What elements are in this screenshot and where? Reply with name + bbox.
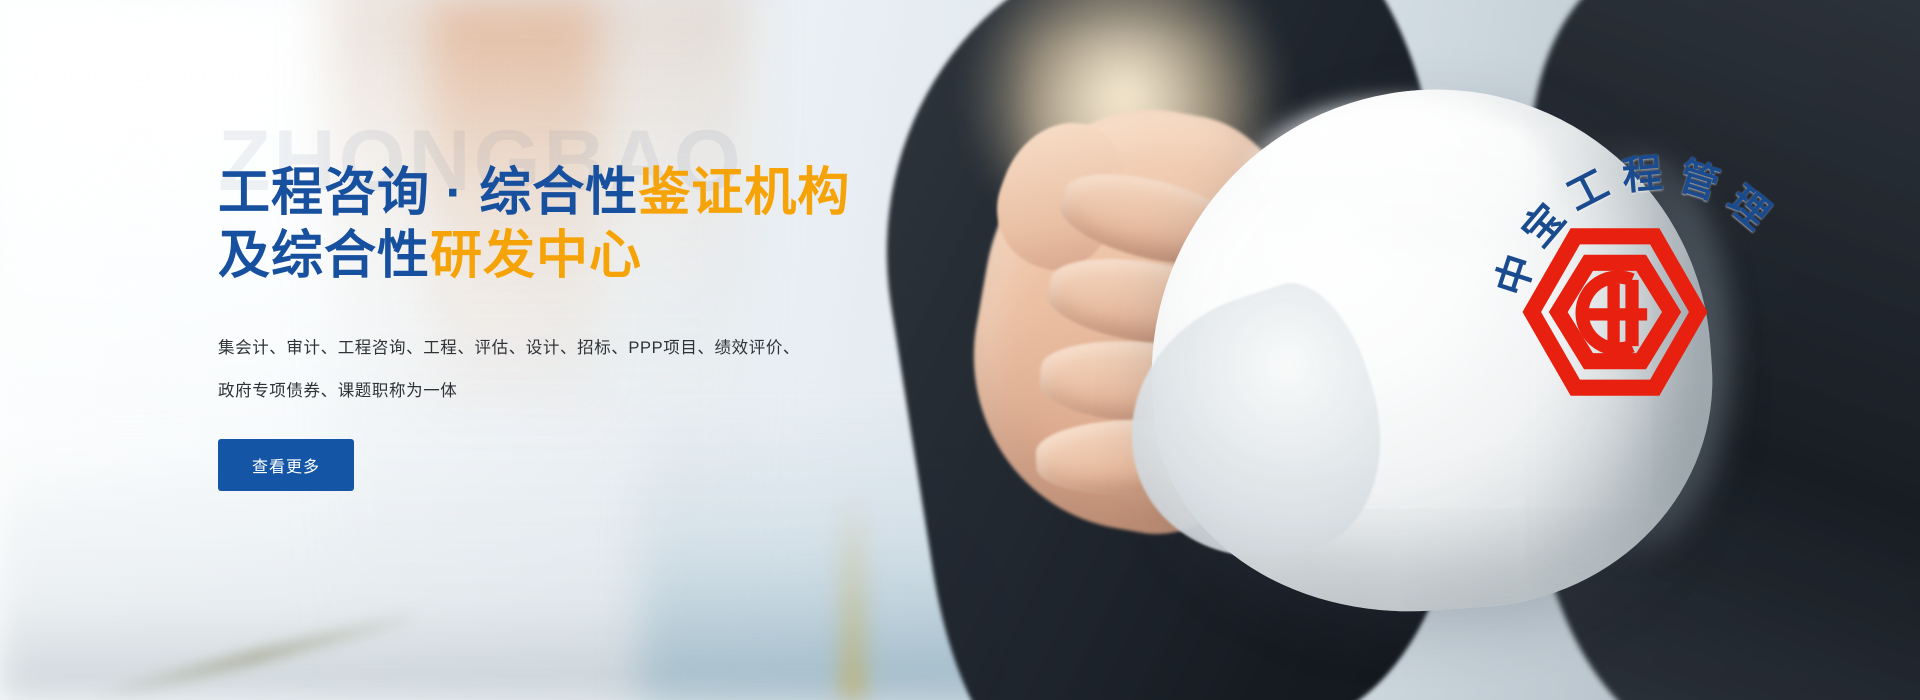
headline-line-2: 及综合性研发中心 [218,225,978,288]
headline-line2-accent: 研发中心 [430,227,642,285]
hero-description-line-1: 集会计、审计、工程咨询、工程、评估、设计、招标、PPP项目、绩效评价、 [218,327,818,370]
hexagonal-logo-icon [1520,225,1710,400]
view-more-button[interactable]: 查看更多 [218,439,354,491]
background-yellow-post [840,500,866,700]
headline-line1-accent: 鉴证机构 [638,164,850,222]
helmet-brand-char: 管 [1673,143,1729,210]
headline-line1-primary: 工程咨询 · 综合性 [218,164,638,222]
helmet-brand-char: 工 [1555,152,1617,222]
page-title: 工程咨询 · 综合性鉴证机构 及综合性研发中心 [218,162,978,289]
hero-description: 集会计、审计、工程咨询、工程、评估、设计、招标、PPP项目、绩效评价、 政府专项… [218,327,818,413]
hero-content: ZHONGBAO 工程咨询 · 综合性鉴证机构 及综合性研发中心 集会计、审计、… [218,118,978,491]
hero-banner: 中宝工程管理 ZHONGBAO 工程咨询 · 综合性鉴证机构 及综合性研发中心 … [0,0,1920,700]
helmet-brand-char: 程 [1620,140,1665,201]
headline-line-1: 工程咨询 · 综合性鉴证机构 [218,162,978,225]
headline-line2-primary: 及综合性 [218,227,430,285]
hero-description-line-2: 政府专项债券、课题职称为一体 [218,370,818,413]
